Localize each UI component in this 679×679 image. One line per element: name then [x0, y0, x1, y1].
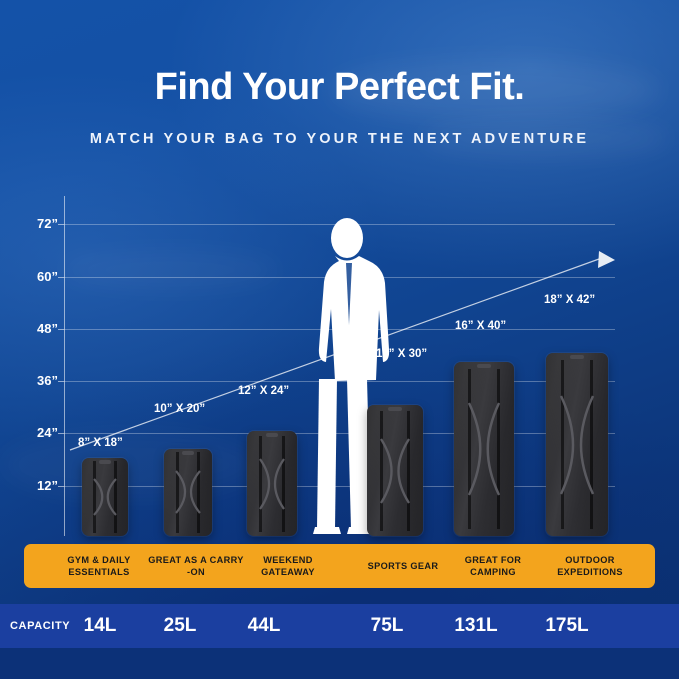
page-subtitle: MATCH YOUR BAG TO YOUR THE NEXT ADVENTUR…	[0, 131, 679, 147]
bar-label-6: 18” X 42”	[544, 294, 595, 306]
bag-x-detail-icon	[173, 467, 203, 517]
capacity-value-5: 131L	[444, 604, 508, 648]
category-cell-5: GREAT FOR CAMPING	[447, 544, 539, 588]
category-cell-4: SPORTS GEAR	[357, 544, 449, 588]
y-tick-label: 12”	[18, 478, 58, 493]
page-title: Find Your Perfect Fit.	[0, 66, 679, 109]
category-cell-3: WEEKEND GATEAWAY	[236, 544, 340, 588]
y-tick-label: 24”	[18, 425, 58, 440]
bar-label-3: 12” X 24”	[238, 385, 289, 397]
category-band: GYM & DAILY ESSENTIALS GREAT AS A CARRY …	[24, 544, 655, 588]
capacity-value-3: 44L	[232, 604, 296, 648]
y-tick-label: 36”	[18, 373, 58, 388]
bag-x-detail-icon	[91, 475, 119, 519]
bag-x-detail-icon	[256, 454, 288, 514]
y-tick-label: 48”	[18, 321, 58, 336]
bar-label-5: 16” X 40”	[455, 320, 506, 332]
category-cell-2: GREAT AS A CARRY -ON	[148, 544, 244, 588]
capacity-value-4: 75L	[355, 604, 419, 648]
bag-x-detail-icon	[464, 397, 504, 501]
bag-x-detail-icon	[377, 434, 413, 508]
infographic-root: Find Your Perfect Fit. MATCH YOUR BAG TO…	[0, 0, 679, 679]
bag-x-detail-icon	[556, 390, 598, 500]
capacity-value-2: 25L	[148, 604, 212, 648]
y-tick-label: 60”	[18, 269, 58, 284]
bar-bag-2	[164, 449, 212, 536]
footer-bar	[0, 648, 679, 679]
capacity-band: CAPACITY 14L 25L 44L 75L 131L 175L	[0, 604, 679, 648]
bar-label-1: 8” X 18”	[78, 437, 123, 449]
category-cell-6: OUTDOOR EXPEDITIONS	[540, 544, 640, 588]
bar-bag-6	[546, 353, 608, 536]
bar-label-2: 10” X 20”	[154, 403, 205, 415]
bar-bag-1	[82, 458, 128, 536]
capacity-value-6: 175L	[535, 604, 599, 648]
bar-label-4: 14” X 30”	[376, 348, 427, 360]
bar-bag-5	[454, 362, 514, 536]
capacity-label: CAPACITY	[10, 604, 70, 648]
bar-bag-3	[247, 431, 297, 536]
capacity-value-1: 14L	[68, 604, 132, 648]
bar-bag-4	[367, 405, 423, 536]
y-tick-label: 72”	[18, 216, 58, 231]
category-cell-1: GYM & DAILY ESSENTIALS	[42, 544, 156, 588]
chart-plot-area: 12” 24” 36” 48” 60” 72”	[64, 196, 615, 536]
